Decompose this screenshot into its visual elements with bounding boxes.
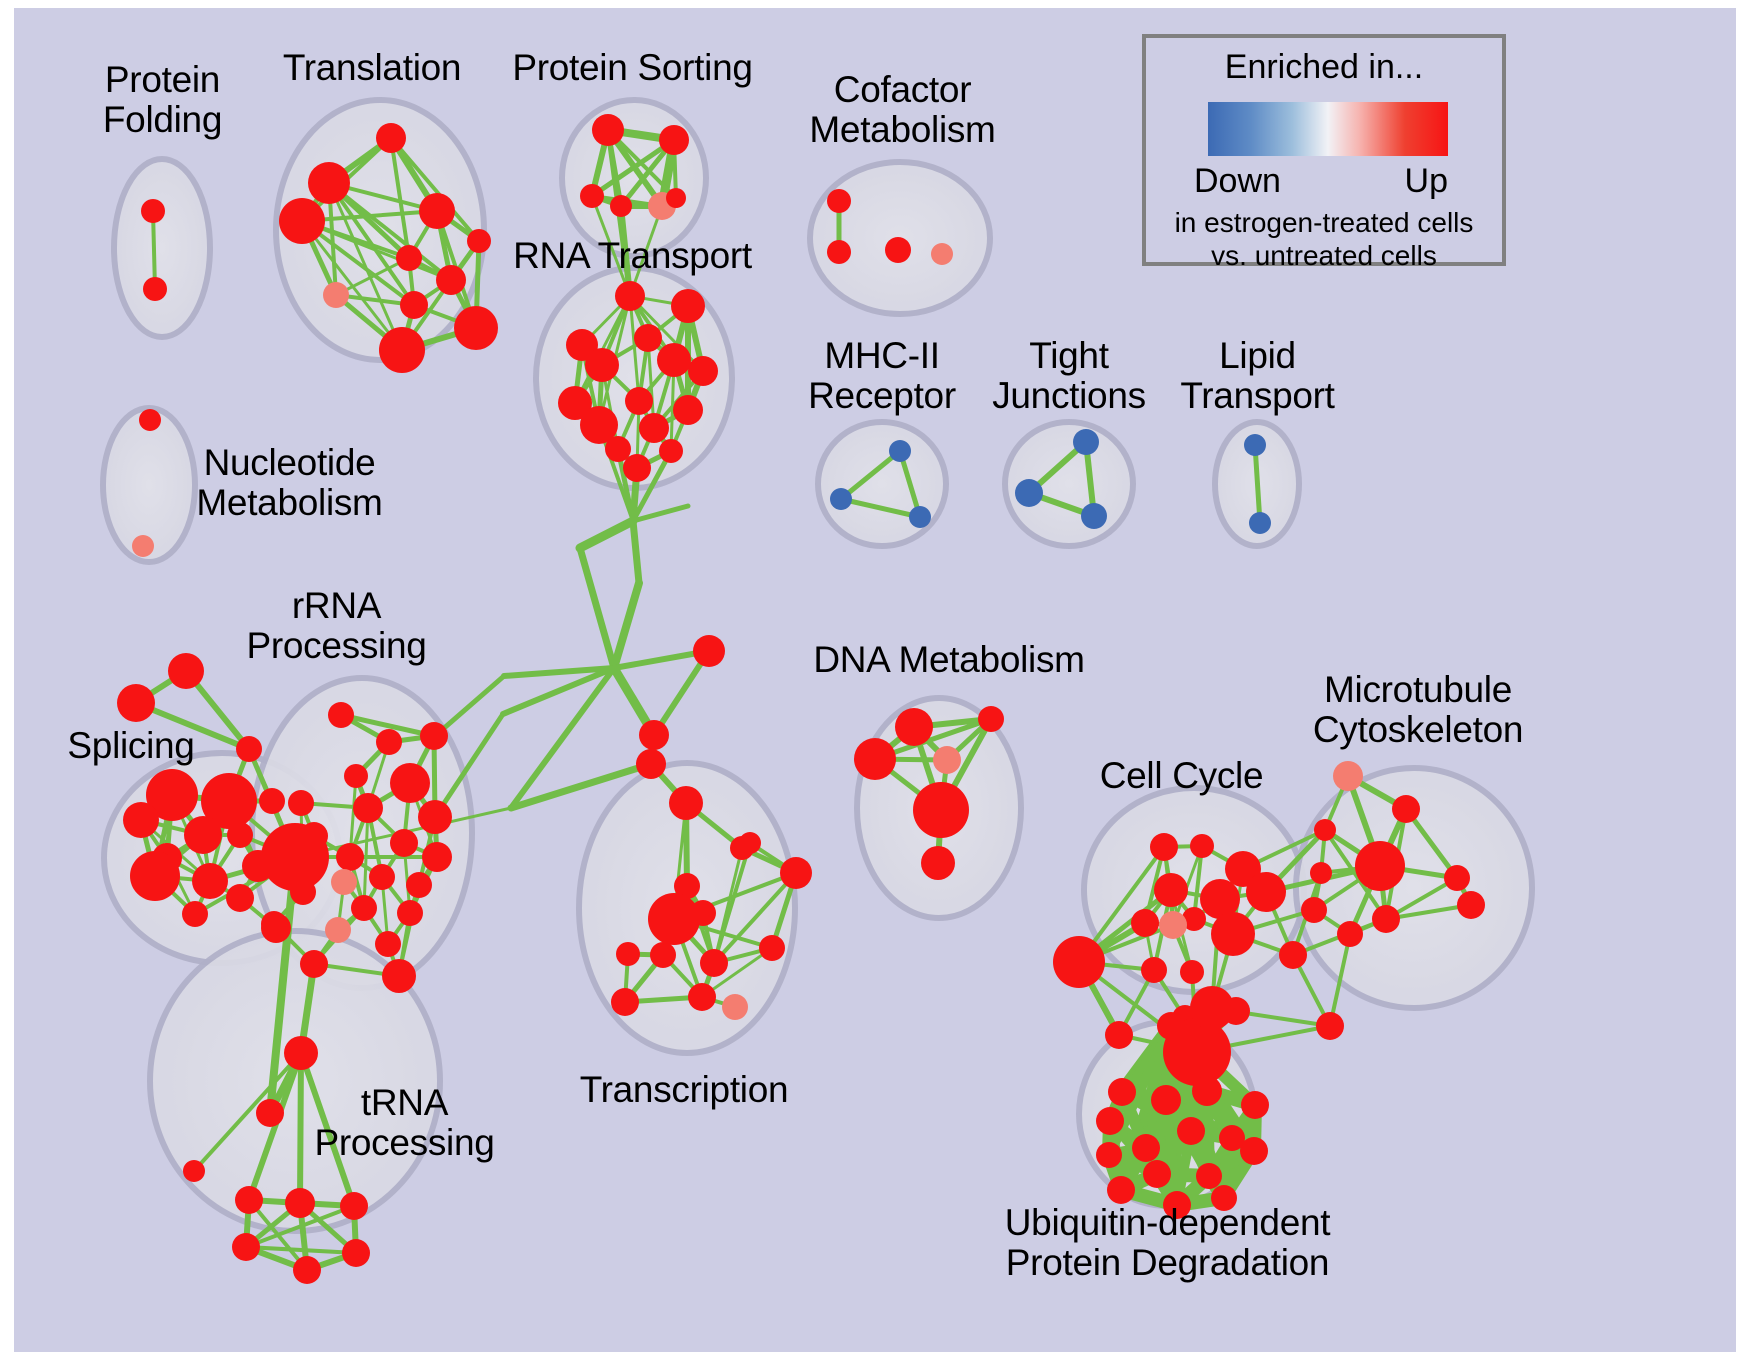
gene-set-node[interactable] [634,324,662,352]
gene-set-node[interactable] [1211,912,1255,956]
gene-set-node[interactable] [279,198,325,244]
gene-set-node[interactable] [909,506,931,528]
gene-set-node[interactable] [328,702,354,728]
gene-set-node[interactable] [285,1188,315,1218]
gene-set-node[interactable] [1301,897,1327,923]
gene-set-node[interactable] [1081,503,1107,529]
gene-set-node[interactable] [436,265,466,295]
gene-set-node[interactable] [236,736,262,762]
gene-set-node[interactable] [1143,1160,1171,1188]
network-edge [633,521,639,583]
gene-set-node[interactable] [375,931,401,957]
gene-set-node[interactable] [351,895,377,921]
gene-set-node[interactable] [1154,873,1188,907]
network-edge [580,548,614,668]
gene-set-node[interactable] [396,245,422,271]
gene-set-node[interactable] [390,829,418,857]
gene-set-node[interactable] [700,949,728,977]
legend-color-gradient [1208,102,1448,156]
gene-set-node[interactable] [1310,862,1332,884]
gene-set-node[interactable] [1314,819,1336,841]
gene-set-node[interactable] [379,327,425,373]
gene-set-node[interactable] [605,436,631,462]
gene-set-node[interactable] [1249,512,1271,534]
gene-set-node[interactable] [192,863,228,899]
gene-set-node[interactable] [400,291,428,319]
gene-set-node[interactable] [390,763,430,803]
gene-set-node[interactable] [284,1036,318,1070]
gene-set-node[interactable] [648,893,700,945]
cluster-ellipse [114,159,210,337]
gene-set-node[interactable] [1337,921,1363,947]
network-edge [300,1053,301,1203]
gene-set-node[interactable] [759,935,785,961]
gene-set-node[interactable] [1211,1185,1237,1211]
gene-set-node[interactable] [300,950,328,978]
gene-set-node[interactable] [123,802,159,838]
network-edge [614,583,639,668]
gene-set-node[interactable] [1444,865,1470,891]
gene-set-node[interactable] [336,843,364,871]
gene-set-node[interactable] [1151,1085,1181,1115]
gene-set-node[interactable] [913,782,969,838]
gene-set-node[interactable] [1196,1163,1222,1189]
gene-set-node[interactable] [130,851,180,901]
gene-set-node[interactable] [659,125,689,155]
gene-set-node[interactable] [1241,1091,1269,1119]
gene-set-node[interactable] [1141,957,1167,983]
gene-set-node[interactable] [143,277,167,301]
gene-set-node[interactable] [227,822,253,848]
legend-down-label: Down [1194,162,1281,201]
gene-set-node[interactable] [580,184,604,208]
legend-subtitle: in estrogen-treated cells vs. untreated … [1146,206,1502,272]
gene-set-node[interactable] [325,917,351,943]
gene-set-node[interactable] [1159,911,1187,939]
gene-set-node[interactable] [585,348,619,382]
gene-set-node[interactable] [1372,905,1400,933]
gene-set-node[interactable] [226,884,254,912]
gene-set-node[interactable] [657,343,691,377]
gene-set-node[interactable] [615,281,645,311]
gene-set-node[interactable] [308,162,350,204]
gene-set-node[interactable] [344,764,368,788]
gene-set-node[interactable] [419,193,455,229]
gene-set-node[interactable] [1392,795,1420,823]
gene-set-node[interactable] [827,189,851,213]
legend-up-label: Up [1405,162,1448,201]
gene-set-node[interactable] [659,439,683,463]
gene-set-node[interactable] [921,846,955,880]
gene-set-node[interactable] [340,1192,368,1220]
gene-set-node[interactable] [671,289,705,323]
gene-set-node[interactable] [256,1099,284,1127]
gene-set-node[interactable] [650,942,676,968]
gene-set-node[interactable] [467,229,491,253]
gene-set-node[interactable] [1105,1021,1133,1049]
gene-set-node[interactable] [1096,1142,1122,1168]
gene-set-node[interactable] [673,395,703,425]
gene-set-node[interactable] [693,635,725,667]
gene-set-node[interactable] [639,720,669,750]
gene-set-node[interactable] [611,988,639,1016]
gene-set-node[interactable] [1279,941,1307,969]
gene-set-node[interactable] [931,243,953,265]
gene-set-node[interactable] [636,749,666,779]
figure-canvas: Protein FoldingTranslationProtein Sortin… [0,0,1750,1360]
gene-set-node[interactable] [1177,1117,1205,1145]
legend-panel: Enriched in... Down Up in estrogen-treat… [1142,34,1506,266]
gene-set-node[interactable] [288,790,314,816]
gene-set-node[interactable] [168,653,204,689]
gene-set-node[interactable] [454,306,498,350]
gene-set-node[interactable] [722,994,748,1020]
gene-set-node[interactable] [1073,429,1099,455]
gene-set-node[interactable] [1015,479,1043,507]
gene-set-node[interactable] [1132,1134,1160,1162]
gene-set-node[interactable] [616,942,640,966]
gene-set-node[interactable] [669,786,703,820]
gene-set-node[interactable] [1163,1191,1191,1219]
network-edge [580,521,633,548]
gene-set-node[interactable] [342,1239,370,1267]
gene-set-node[interactable] [1190,986,1234,1030]
gene-set-node[interactable] [235,1186,263,1214]
gene-set-node[interactable] [1053,936,1105,988]
gene-set-node[interactable] [688,356,718,386]
gene-set-node[interactable] [639,413,669,443]
gene-set-node[interactable] [261,911,287,937]
gene-set-node[interactable] [1333,761,1363,791]
gene-set-node[interactable] [293,1256,321,1284]
gene-set-node[interactable] [422,842,452,872]
gene-set-node[interactable] [688,983,716,1011]
gene-set-node[interactable] [232,1233,260,1261]
gene-set-node[interactable] [259,788,285,814]
gene-set-node[interactable] [978,706,1004,732]
gene-set-node[interactable] [1131,909,1159,937]
gene-set-node[interactable] [141,199,165,223]
gene-set-node[interactable] [418,800,452,834]
gene-set-node[interactable] [1108,1078,1136,1106]
network-background: Protein FoldingTranslationProtein Sortin… [14,8,1736,1352]
gene-set-node[interactable] [1190,834,1214,858]
gene-set-node[interactable] [1316,1012,1344,1040]
legend-title: Enriched in... [1146,48,1502,87]
gene-set-node[interactable] [382,959,416,993]
gene-set-node[interactable] [420,722,448,750]
gene-set-node[interactable] [376,123,406,153]
gene-set-node[interactable] [592,114,624,146]
gene-set-node[interactable] [1192,1076,1222,1106]
gene-set-node[interactable] [1457,891,1485,919]
gene-set-node[interactable] [739,832,761,854]
gene-set-node[interactable] [1355,841,1405,891]
gene-set-node[interactable] [184,816,222,854]
gene-set-node[interactable] [1150,833,1178,861]
gene-set-node[interactable] [885,237,911,263]
gene-set-node[interactable] [610,195,632,217]
gene-set-node[interactable] [1157,1012,1185,1040]
gene-set-node[interactable] [1096,1107,1124,1135]
gene-set-node[interactable] [889,440,911,462]
gene-set-node[interactable] [376,729,402,755]
gene-set-node[interactable] [323,282,349,308]
gene-set-node[interactable] [1246,872,1286,912]
gene-set-node[interactable] [406,872,432,898]
gene-set-node[interactable] [780,857,812,889]
gene-set-node[interactable] [183,1160,205,1182]
gene-set-node[interactable] [1240,1137,1268,1165]
gene-set-node[interactable] [300,822,328,850]
gene-set-node[interactable] [933,746,961,774]
gene-set-node[interactable] [895,708,933,746]
gene-set-node[interactable] [625,387,653,415]
gene-set-node[interactable] [854,738,896,780]
gene-set-node[interactable] [182,901,208,927]
gene-set-node[interactable] [290,879,316,905]
gene-set-node[interactable] [623,454,651,482]
gene-set-node[interactable] [830,488,852,510]
cluster-ellipse [562,100,706,256]
gene-set-node[interactable] [353,793,383,823]
gene-set-node[interactable] [827,240,851,264]
cluster-ellipse [818,422,946,546]
gene-set-node[interactable] [1107,1176,1135,1204]
gene-set-node[interactable] [666,188,686,208]
gene-set-node[interactable] [331,869,357,895]
gene-set-node[interactable] [1180,960,1204,984]
gene-set-node[interactable] [369,864,395,890]
gene-set-node[interactable] [397,900,423,926]
gene-set-node[interactable] [1244,434,1266,456]
gene-set-node[interactable] [139,409,161,431]
gene-set-node[interactable] [132,535,154,557]
gene-set-node[interactable] [117,684,155,722]
